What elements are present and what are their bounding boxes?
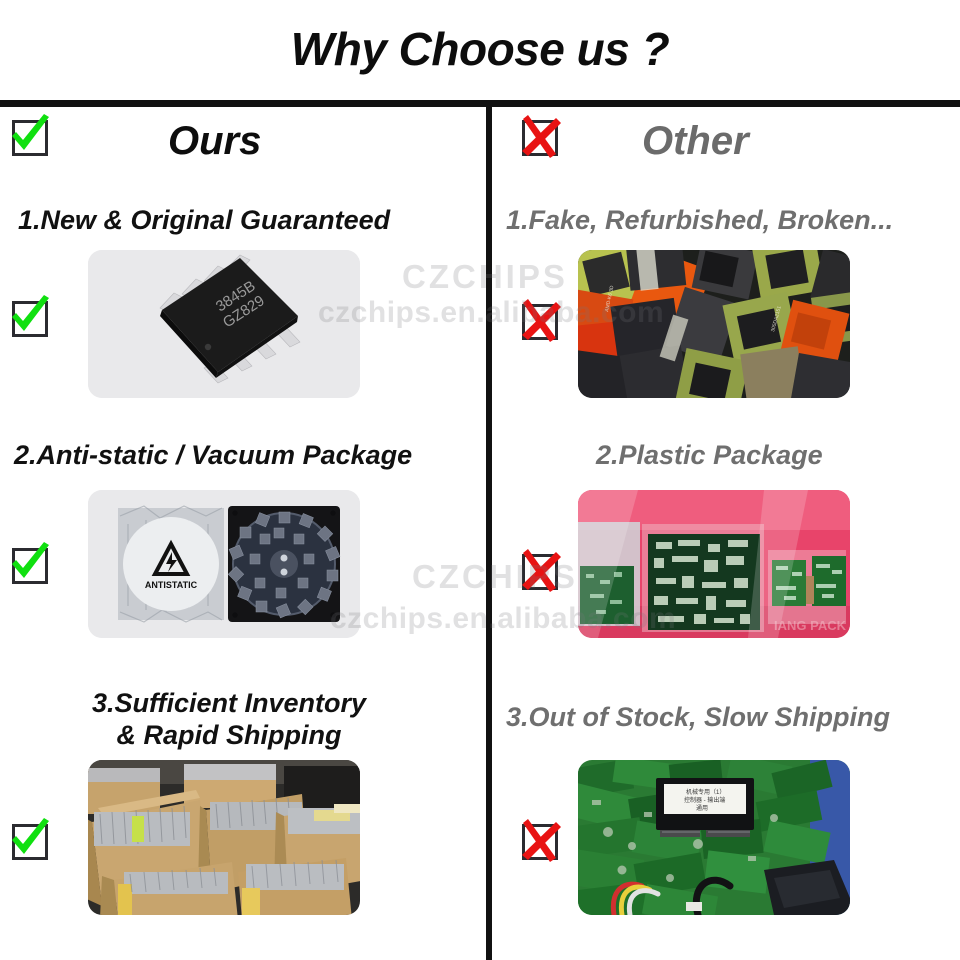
antistatic-illustration: ANTISTATIC <box>88 490 360 638</box>
green-check-icon-header <box>6 112 52 158</box>
photo-scrap-cpu-pile: AMD-K6 3D 305DA2151 <box>578 250 850 398</box>
antistatic-bag-label: ANTISTATIC <box>145 580 198 590</box>
header-divider <box>0 100 960 107</box>
feature-label-ours-3-wrap: 3.Sufficient Inventory & Rapid Shipping <box>64 688 394 752</box>
watermark-brand-1: CZCHIPS <box>402 258 568 296</box>
plastic-bag-watermark: IANG PACK <box>774 618 847 633</box>
green-check-icon-row3 <box>6 816 52 862</box>
column-header-other: Other <box>492 112 960 170</box>
why-choose-us-infographic: Why Choose us ? Ours Other 1.New & Origi… <box>0 0 960 960</box>
feature-label-ours-3-line1: 3.Sufficient Inventory <box>92 688 366 718</box>
feature-label-ours-3-line2: & Rapid Shipping <box>117 720 342 750</box>
plastic-package-illustration: IANG PACK <box>578 490 850 638</box>
green-check-icon-row1 <box>6 293 52 339</box>
column-header-ours: Ours <box>0 112 486 170</box>
chip-illustration: 3845B GZ829 <box>88 250 360 398</box>
cross-glyph <box>516 296 562 342</box>
photo-scrap-pcb-heap: 机械专用（1） 控制器 - 输出端 通用 <box>578 760 850 915</box>
photo-chip: 3845B GZ829 <box>88 250 360 398</box>
cross-glyph <box>516 112 562 158</box>
svg-text:控制器 - 输出端: 控制器 - 输出端 <box>684 796 725 804</box>
cross-glyph <box>516 546 562 592</box>
photo-stocked-cartons <box>88 760 360 915</box>
red-x-icon-row2 <box>516 546 562 592</box>
cross-glyph <box>516 816 562 862</box>
column-head-label-ours: Ours <box>168 119 261 164</box>
check-glyph <box>6 112 52 158</box>
feature-label-other-1: 1.Fake, Refurbished, Broken... <box>506 205 893 237</box>
check-glyph <box>6 816 52 862</box>
red-x-icon-row1 <box>516 296 562 342</box>
photo-plastic-package: IANG PACK <box>578 490 850 638</box>
scrap-pcb-illustration: 机械专用（1） 控制器 - 输出端 通用 <box>578 760 850 915</box>
red-x-icon-row3 <box>516 816 562 862</box>
scrap-cpu-illustration: AMD-K6 3D 305DA2151 <box>578 250 850 398</box>
green-check-icon-row2 <box>6 540 52 586</box>
column-divider <box>486 100 492 960</box>
feature-label-other-2: 2.Plastic Package <box>596 440 823 472</box>
feature-label-other-3: 3.Out of Stock, Slow Shipping <box>506 702 890 734</box>
column-head-label-other: Other <box>642 119 749 164</box>
cartons-illustration <box>88 760 360 915</box>
feature-label-ours-2: 2.Anti-static / Vacuum Package <box>14 440 412 472</box>
photo-antistatic-package: ANTISTATIC <box>88 490 360 638</box>
feature-label-ours-1: 1.New & Original Guaranteed <box>18 205 390 237</box>
red-x-icon-header <box>516 112 562 158</box>
check-glyph <box>6 540 52 586</box>
svg-text:通用: 通用 <box>696 804 708 812</box>
svg-text:机械专用（1）: 机械专用（1） <box>686 788 725 796</box>
page-title: Why Choose us ? <box>0 22 960 76</box>
check-glyph <box>6 293 52 339</box>
